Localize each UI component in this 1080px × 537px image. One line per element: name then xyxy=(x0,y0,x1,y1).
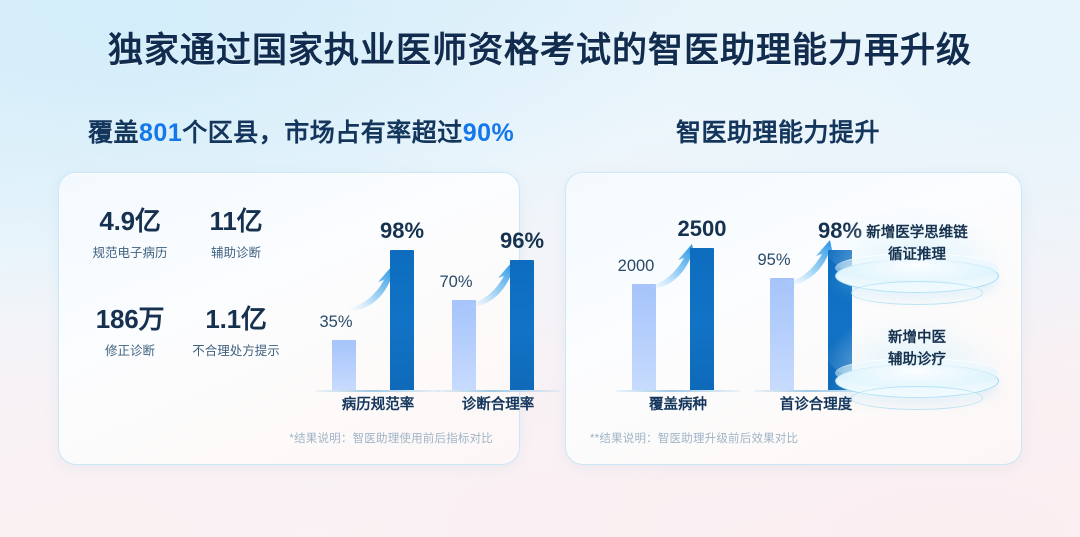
header-middle: 个区县，市场占有率超过 xyxy=(182,119,463,147)
stats-row: 4.9亿 规范电子病历 11亿 辅助诊断 xyxy=(77,207,289,261)
bar-pair: 2000 2500 xyxy=(614,216,742,392)
category-label: 诊断合理率 xyxy=(434,393,562,414)
bar-pair-diagnosis-rationality-rate: 70% 96% xyxy=(434,216,562,392)
stat-value: 11亿 xyxy=(183,207,289,235)
stats-row: 186万 修正诊断 1.1亿 不合理处方提示 xyxy=(77,305,289,359)
bar-after xyxy=(510,260,534,390)
chart-baseline xyxy=(436,390,560,392)
bar-before xyxy=(770,278,794,390)
bar-before xyxy=(452,300,476,390)
capability-pill-clinical-reasoning: 新增医学思维链 循证推理 xyxy=(831,211,1003,311)
right-capability-card: 2000 2500 xyxy=(565,172,1022,465)
category-label: 覆盖病种 xyxy=(614,393,742,414)
capability-pill-tcm-diagnosis: 新增中医 辅助诊疗 xyxy=(831,316,1003,416)
stat-label: 辅助诊断 xyxy=(183,242,289,261)
bar-after xyxy=(390,250,414,390)
chart-baseline xyxy=(316,390,440,392)
capability-line-2: 辅助诊疗 xyxy=(831,350,1003,372)
right-section-header: 智医助理能力提升 xyxy=(676,113,880,149)
slide-canvas: 独家通过国家执业医师资格考试的智医助理能力再升级 覆盖801个区县，市场占有率超… xyxy=(0,0,1080,537)
pill-platform-reflection xyxy=(851,386,983,410)
bar-value-before: 35% xyxy=(305,314,367,331)
bar-pair-disease-coverage: 2000 2500 xyxy=(614,216,742,392)
capability-line-2: 循证推理 xyxy=(831,245,1003,267)
chart-baseline xyxy=(616,390,740,392)
stat-item: 4.9亿 规范电子病历 xyxy=(77,207,183,261)
capability-line-1: 新增医学思维链 xyxy=(831,223,1003,245)
bar-before xyxy=(332,340,356,390)
left-metrics-card: 4.9亿 规范电子病历 11亿 辅助诊断 186万 修正诊断 1.1亿 不合理处… xyxy=(58,172,520,465)
stat-value: 1.1亿 xyxy=(183,305,289,333)
bar-value-after: 98% xyxy=(364,220,440,242)
header-highlight-801: 801 xyxy=(139,119,182,147)
stat-label: 不合理处方提示 xyxy=(183,340,289,359)
bar-value-after: 96% xyxy=(484,230,560,252)
capability-line-1: 新增中医 xyxy=(831,328,1003,350)
left-footnote: *结果说明：智医助理使用前后指标对比 xyxy=(289,430,493,446)
category-label: 病历规范率 xyxy=(314,393,442,414)
bar-pair-medical-record-standard-rate: 35% 98% xyxy=(314,216,442,392)
bar-before xyxy=(632,284,656,390)
right-footnote: **结果说明：智医助理升级前后效果对比 xyxy=(590,430,798,446)
bar-value-after: 2500 xyxy=(664,218,740,240)
usage-stats-grid: 4.9亿 规范电子病历 11亿 辅助诊断 186万 修正诊断 1.1亿 不合理处… xyxy=(77,207,289,359)
pill-platform-reflection xyxy=(851,281,983,305)
stat-label: 修正诊断 xyxy=(77,340,183,359)
page-title: 独家通过国家执业医师资格考试的智医助理能力再升级 xyxy=(0,22,1080,73)
stat-value: 4.9亿 xyxy=(77,207,183,235)
capability-text: 新增中医 辅助诊疗 xyxy=(831,328,1003,372)
capability-text: 新增医学思维链 循证推理 xyxy=(831,223,1003,267)
left-section-header: 覆盖801个区县，市场占有率超过90% xyxy=(88,113,514,149)
header-highlight-90pct: 90% xyxy=(463,119,515,147)
header-prefix: 覆盖 xyxy=(88,119,139,147)
stat-item: 11亿 辅助诊断 xyxy=(183,207,289,261)
stat-label: 规范电子病历 xyxy=(77,242,183,261)
stat-item: 186万 修正诊断 xyxy=(77,305,183,359)
stat-item: 1.1亿 不合理处方提示 xyxy=(183,305,289,359)
bar-pair: 35% 98% xyxy=(314,216,442,392)
stat-value: 186万 xyxy=(77,305,183,333)
bar-pair: 70% 96% xyxy=(434,216,562,392)
bar-after xyxy=(690,248,714,390)
